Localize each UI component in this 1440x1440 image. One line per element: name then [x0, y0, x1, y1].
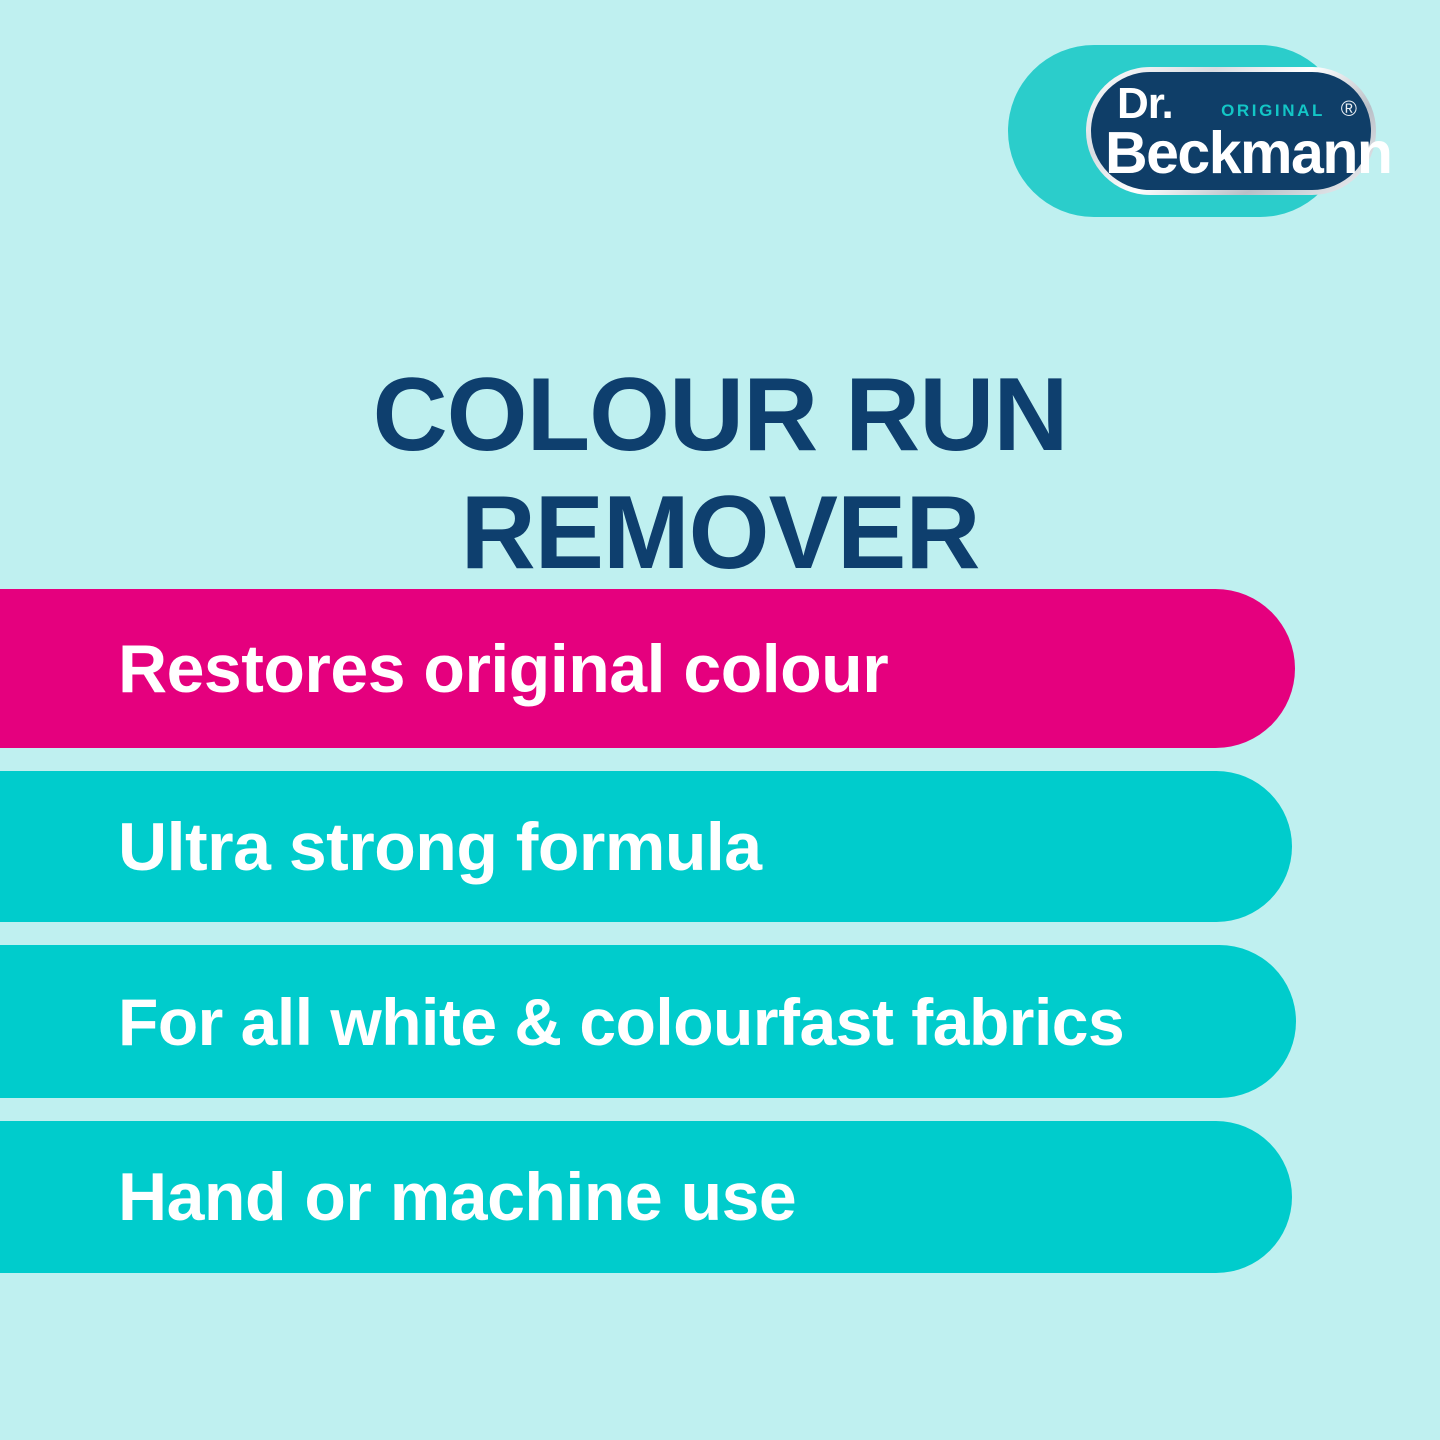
page-title: COLOUR RUN REMOVER: [0, 356, 1440, 593]
registered-trademark-icon: ®: [1341, 98, 1357, 120]
feature-bar-restores-original-colour: Restores original colour: [0, 589, 1295, 748]
feature-bar-ultra-strong-formula: Ultra strong formula: [0, 771, 1292, 922]
feature-bar-hand-or-machine-use: Hand or machine use: [0, 1121, 1292, 1273]
product-promo-poster: Dr. ORIGINAL ® Beckmann COLOUR RUN REMOV…: [0, 0, 1440, 1440]
brand-logo: Dr. ORIGINAL ® Beckmann: [1008, 45, 1346, 217]
logo-brand-name-text: Beckmann: [1105, 124, 1391, 183]
feature-label: Restores original colour: [0, 635, 888, 703]
feature-label: For all white & colourfast fabrics: [0, 989, 1124, 1055]
feature-label: Hand or machine use: [0, 1163, 796, 1231]
feature-list: Restores original colour Ultra strong fo…: [0, 589, 1440, 1296]
feature-label: Ultra strong formula: [0, 813, 762, 881]
page-title-line-2: REMOVER: [0, 474, 1440, 593]
page-title-line-1: COLOUR RUN: [0, 356, 1440, 475]
logo-pill-shape: Dr. ORIGINAL ® Beckmann: [1086, 67, 1376, 195]
feature-bar-white-and-colourfast-fabrics: For all white & colourfast fabrics: [0, 945, 1296, 1098]
logo-original-text: ORIGINAL: [1221, 102, 1325, 119]
logo-inner: Dr. ORIGINAL ® Beckmann: [1091, 72, 1371, 190]
